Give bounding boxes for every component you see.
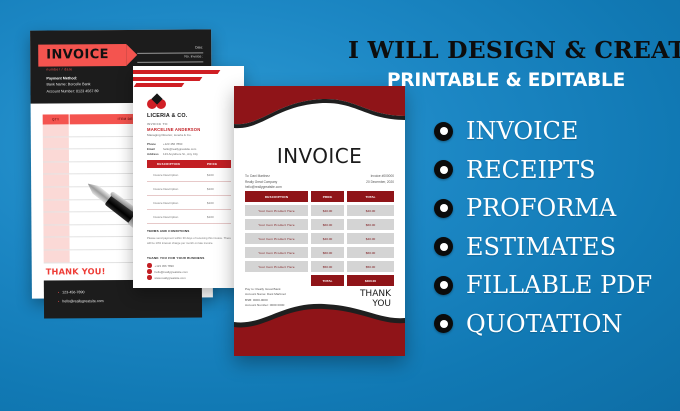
thanks-title: THANK YOU FOR YOUR BUSINESS (147, 256, 205, 260)
desc-header-label: DESCRIPTION (147, 162, 203, 166)
row-price: $100 (207, 187, 231, 191)
footer-phone: 123-456-7890 (58, 290, 85, 294)
row-total: $60.00 (347, 247, 394, 258)
terms-title: TERMS AND CONDITIONS (147, 229, 190, 233)
table-header-row: DESCRIPTION PRICE (147, 160, 231, 168)
row-desc: Invoice Description (147, 173, 207, 177)
invoice-no-label: No. Invoice : (137, 54, 203, 58)
bank-pay-to: Pay to: Really Great Bank (245, 287, 281, 291)
table-row: Invoice Description $100 (147, 196, 231, 210)
row-price: $40.00 (311, 233, 344, 244)
bullet-dot-icon (434, 237, 453, 256)
total-label: TOTAL (311, 275, 344, 286)
row-price: $60.00 (311, 219, 344, 230)
white-card-red-stripes (133, 66, 244, 92)
row-price: $100 (207, 201, 231, 205)
row-price: $40.00 (311, 205, 344, 216)
invoice-meta-block: Invoice #000000 20 December, 2020 (366, 174, 394, 191)
list-item-label: ESTIMATES (466, 233, 616, 261)
list-item-label: PROFORMA (466, 194, 616, 222)
invoice-number: Invoice #000000 (371, 174, 394, 178)
to-email: hello@reallygreatsite.com (245, 185, 282, 189)
date-label: Date: (137, 45, 203, 49)
table-row: Your Item Product Here $40.00 $40.00 (245, 233, 394, 244)
row-total: $40.00 (347, 233, 394, 244)
row-desc: Your Item Product Here (245, 205, 308, 216)
total-header-label: TOTAL (347, 191, 394, 202)
white-card-footer: +123 456 7890 hello@reallygreatsite.com … (147, 263, 188, 282)
row-desc: Your Item Product Here (245, 219, 308, 230)
qty-cell (43, 200, 69, 212)
list-item-label: FILLABLE PDF (466, 271, 652, 299)
qty-header-label: QTY (52, 117, 59, 121)
company-name: LICERIA & CO. (147, 113, 187, 119)
table-row: Invoice Description $100 (147, 182, 231, 196)
bullet-dot-icon (434, 199, 453, 218)
service-list: INVOICE RECEIPTS PROFORMA ESTIMATES FILL… (434, 112, 680, 343)
bullet-dot-icon (434, 122, 453, 141)
client-role: Managing Director, Liceria & Co. (147, 133, 192, 137)
invoice-card-red: INVOICE To: Dani Martinez Really Great C… (234, 86, 405, 356)
list-item-invoice: INVOICE (434, 112, 680, 151)
red-wave-bottom (234, 296, 405, 356)
qty-cell (44, 238, 70, 250)
price-header-label: PRICE (311, 191, 344, 202)
qty-cell (43, 150, 69, 162)
qty-cell (43, 137, 69, 149)
black-card-title: INVOICE (46, 47, 109, 62)
liceria-logo-icon (147, 95, 167, 109)
footer-phone: +123 456 7890 (155, 264, 174, 268)
list-item-fillable-pdf: FILLABLE PDF (434, 266, 680, 305)
desc-header-label: DESCRIPTION (245, 191, 308, 202)
qty-cell (43, 124, 69, 136)
list-item-quotation: QUOTATION (434, 305, 680, 344)
terms-body: Please send payment within 30 days of re… (147, 236, 231, 245)
footer-email: hello@reallygreatsite.com (155, 270, 188, 274)
invoice-ribbon: INVOICE (38, 44, 126, 67)
table-header-row: DESCRIPTION PRICE TOTAL (245, 191, 394, 202)
promo-subheadline: PRINTABLE & EDITABLE (348, 70, 664, 91)
qty-cell (43, 213, 69, 225)
row-desc: Invoice Description (147, 187, 207, 191)
to-company: Really Great Company (245, 180, 277, 184)
qty-cell (43, 162, 69, 174)
list-item-label: INVOICE (466, 117, 578, 145)
account-number: Account Number: 0123 4567 89 (46, 89, 98, 93)
to-name: To: Dani Martinez (245, 174, 270, 178)
red-card-meta: To: Dani Martinez Really Great Company h… (245, 174, 394, 191)
white-card-table: DESCRIPTION PRICE Invoice Description $1… (147, 160, 231, 224)
contact-value-address: 123 Anywhere St., Any City (163, 152, 198, 156)
black-card-thank-you: THANK YOU! (46, 266, 106, 276)
invoice-date: 20 December, 2020 (366, 180, 394, 184)
total-spacer (245, 275, 308, 286)
globe-icon (147, 275, 152, 280)
payment-method-block: Payment Method: Bank Name: Borcelle Bank… (46, 75, 98, 95)
row-desc: Invoice Description (147, 201, 207, 205)
contact-value-phone: +123 456 7890 (163, 142, 182, 146)
promo-headline: I WILL DESIGN & CREATE (348, 36, 664, 64)
row-price: $60.00 (311, 247, 344, 258)
bullet-dot-icon (434, 314, 453, 333)
black-card-meta: Date: No. Invoice : (137, 45, 203, 63)
row-desc: Your Item Product Here (245, 261, 308, 272)
list-item-receipts: RECEIPTS (434, 151, 680, 190)
row-total: $40.00 (347, 205, 394, 216)
table-row: Your Item Product Here $40.00 $40.00 (245, 205, 394, 216)
qty-cell (44, 250, 70, 262)
stripe-1 (133, 70, 220, 74)
email-icon (147, 269, 152, 274)
row-desc: Invoice Description (147, 215, 207, 219)
list-item-proforma: PROFORMA (434, 189, 680, 228)
table-row: Your Item Product Here $60.00 $60.00 (245, 247, 394, 258)
qty-cell (43, 175, 69, 187)
table-total-row: TOTAL $300.00 (245, 275, 394, 286)
contact-block: Phone+123 456 7890 Emailhello@reallygrea… (147, 142, 198, 157)
table-row: Invoice Description $100 (147, 168, 231, 182)
red-wave-top (234, 86, 405, 142)
red-card-title: INVOICE (234, 144, 405, 168)
list-item-estimates: ESTIMATES (434, 228, 680, 267)
red-card-table: DESCRIPTION PRICE TOTAL Your Item Produc… (245, 191, 394, 289)
bullet-dot-icon (434, 160, 453, 179)
table-row: Your Item Product Here $60.00 $60.00 (245, 219, 394, 230)
invoice-no-rule (137, 61, 203, 62)
stripe-2 (133, 77, 202, 81)
list-item-label: RECEIPTS (466, 156, 596, 184)
row-desc: Your Item Product Here (245, 247, 308, 258)
bank-name: Bank Name: Borcelle Bank (46, 83, 90, 87)
table-row: Invoice Description $100 (147, 210, 231, 224)
price-header-label: PRICE (203, 162, 231, 166)
footer-email: hello@reallygreatsite.com (58, 299, 104, 303)
promo-banner: INVOICE number / date Date: No. Invoice … (0, 0, 680, 411)
total-value: $300.00 (347, 275, 394, 286)
client-name: MARCELINE ANDERSON (147, 127, 200, 132)
row-total: $50.00 (347, 261, 394, 272)
qty-cell (43, 187, 69, 199)
payment-method-title: Payment Method: (46, 76, 77, 80)
qty-cell (43, 225, 69, 237)
invoice-card-white: LICERIA & CO. INVOICE TO: MARCELINE ANDE… (133, 66, 244, 288)
row-desc: Your Item Product Here (245, 233, 308, 244)
stripe-3 (134, 83, 185, 87)
row-price: $100 (207, 215, 231, 219)
bill-to-block: To: Dani Martinez Really Great Company h… (245, 174, 282, 191)
phone-icon (147, 263, 152, 268)
invoice-to-label: INVOICE TO: (147, 122, 169, 126)
row-price: $100 (207, 173, 231, 177)
row-price: $50.00 (311, 261, 344, 272)
footer-website: www.reallygreatsite.com (155, 276, 186, 280)
qty-header-cell: QTY (43, 114, 69, 124)
table-row: Your Item Product Here $50.00 $50.00 (245, 261, 394, 272)
bullet-dot-icon (434, 276, 453, 295)
list-item-label: QUOTATION (466, 310, 622, 338)
black-card-subtitle: number / date (46, 67, 72, 71)
contact-label-address: Address (147, 152, 163, 157)
row-total: $60.00 (347, 219, 394, 230)
contact-value-email: hello@reallygreatsite.com (163, 147, 196, 151)
